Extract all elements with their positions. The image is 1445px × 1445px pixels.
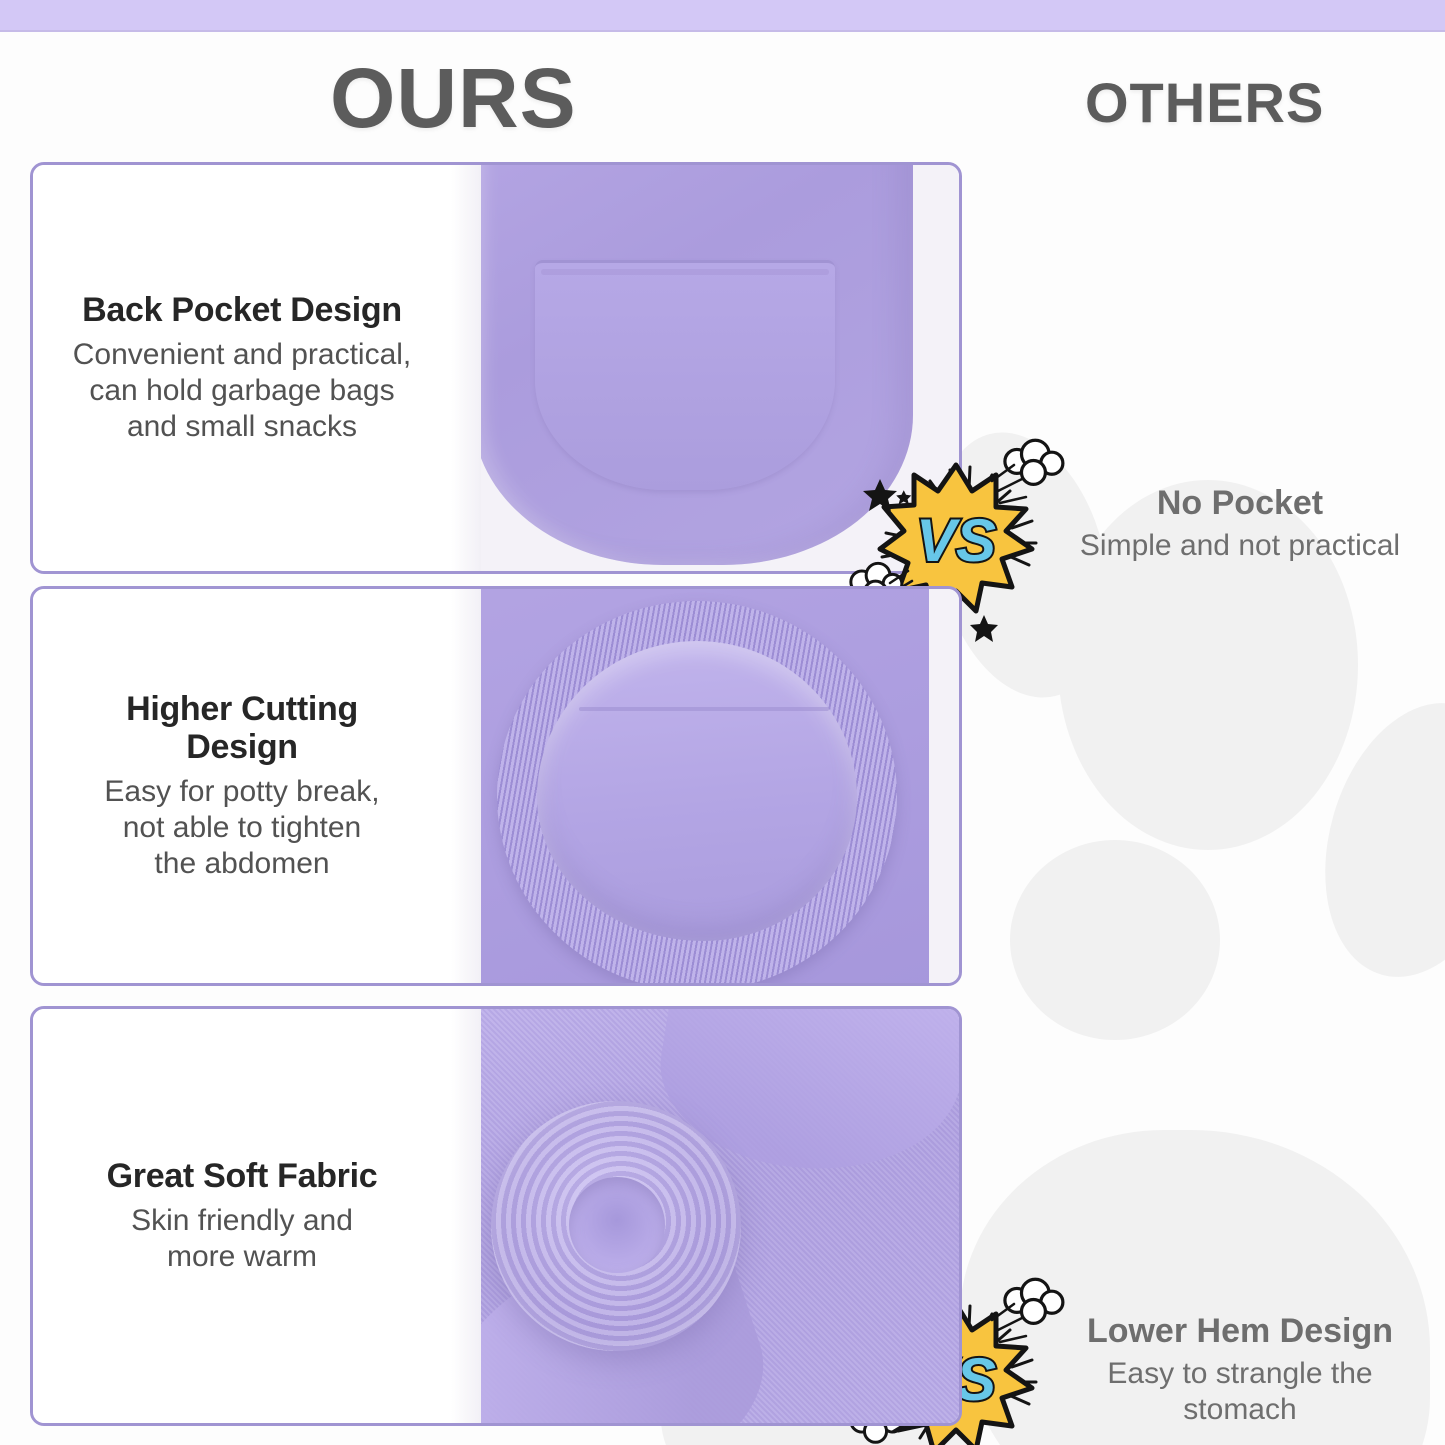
hem-seam: [579, 707, 829, 711]
ours-subtitle: Easy for potty break,not able to tighten…: [104, 774, 379, 882]
ours-title: Great Soft Fabric: [107, 1157, 378, 1195]
vs-label: VS: [916, 507, 996, 574]
ours-photo: [451, 589, 959, 983]
ours-card: Great Soft Fabric Skin friendly andmore …: [30, 1006, 962, 1426]
hem-inner-lining: [537, 641, 857, 941]
ours-title: Back Pocket Design: [82, 291, 402, 329]
ours-subtitle: Skin friendly andmore warm: [131, 1203, 353, 1275]
others-subtitle: Simple and not practical: [1040, 528, 1440, 564]
ours-title: Higher CuttingDesign: [126, 690, 358, 766]
others-title: No Pocket: [1040, 484, 1440, 522]
pocket-seam: [541, 269, 829, 275]
ours-card: Back Pocket Design Convenient and practi…: [30, 162, 962, 574]
ours-text-block: Back Pocket Design Convenient and practi…: [33, 165, 451, 571]
ours-text-block: Great Soft Fabric Skin friendly andmore …: [33, 1009, 451, 1423]
comparison-row: Back Pocket Design Convenient and practi…: [0, 162, 1445, 574]
header-ours: OURS: [330, 50, 577, 147]
column-headers: OURS OTHERS: [0, 40, 1445, 150]
ours-photo: [451, 1009, 959, 1423]
header-others: OTHERS: [1085, 70, 1324, 135]
comparison-infographic: OURS OTHERS Back Pocket Design Convenien…: [0, 0, 1445, 1445]
ours-subtitle: Convenient and practical,can hold garbag…: [73, 337, 412, 445]
comparison-row: Higher CuttingDesign Easy for potty brea…: [0, 586, 1445, 986]
ours-text-block: Higher CuttingDesign Easy for potty brea…: [33, 589, 451, 983]
ours-card: Higher CuttingDesign Easy for potty brea…: [30, 586, 962, 986]
comparison-row: Great Soft Fabric Skin friendly andmore …: [0, 1006, 1445, 1426]
back-pocket: [535, 260, 835, 490]
fabric-swirl-core: [569, 1177, 665, 1273]
top-banner: [0, 0, 1445, 32]
others-text-block: No Pocket Simple and not practical: [1040, 484, 1440, 564]
